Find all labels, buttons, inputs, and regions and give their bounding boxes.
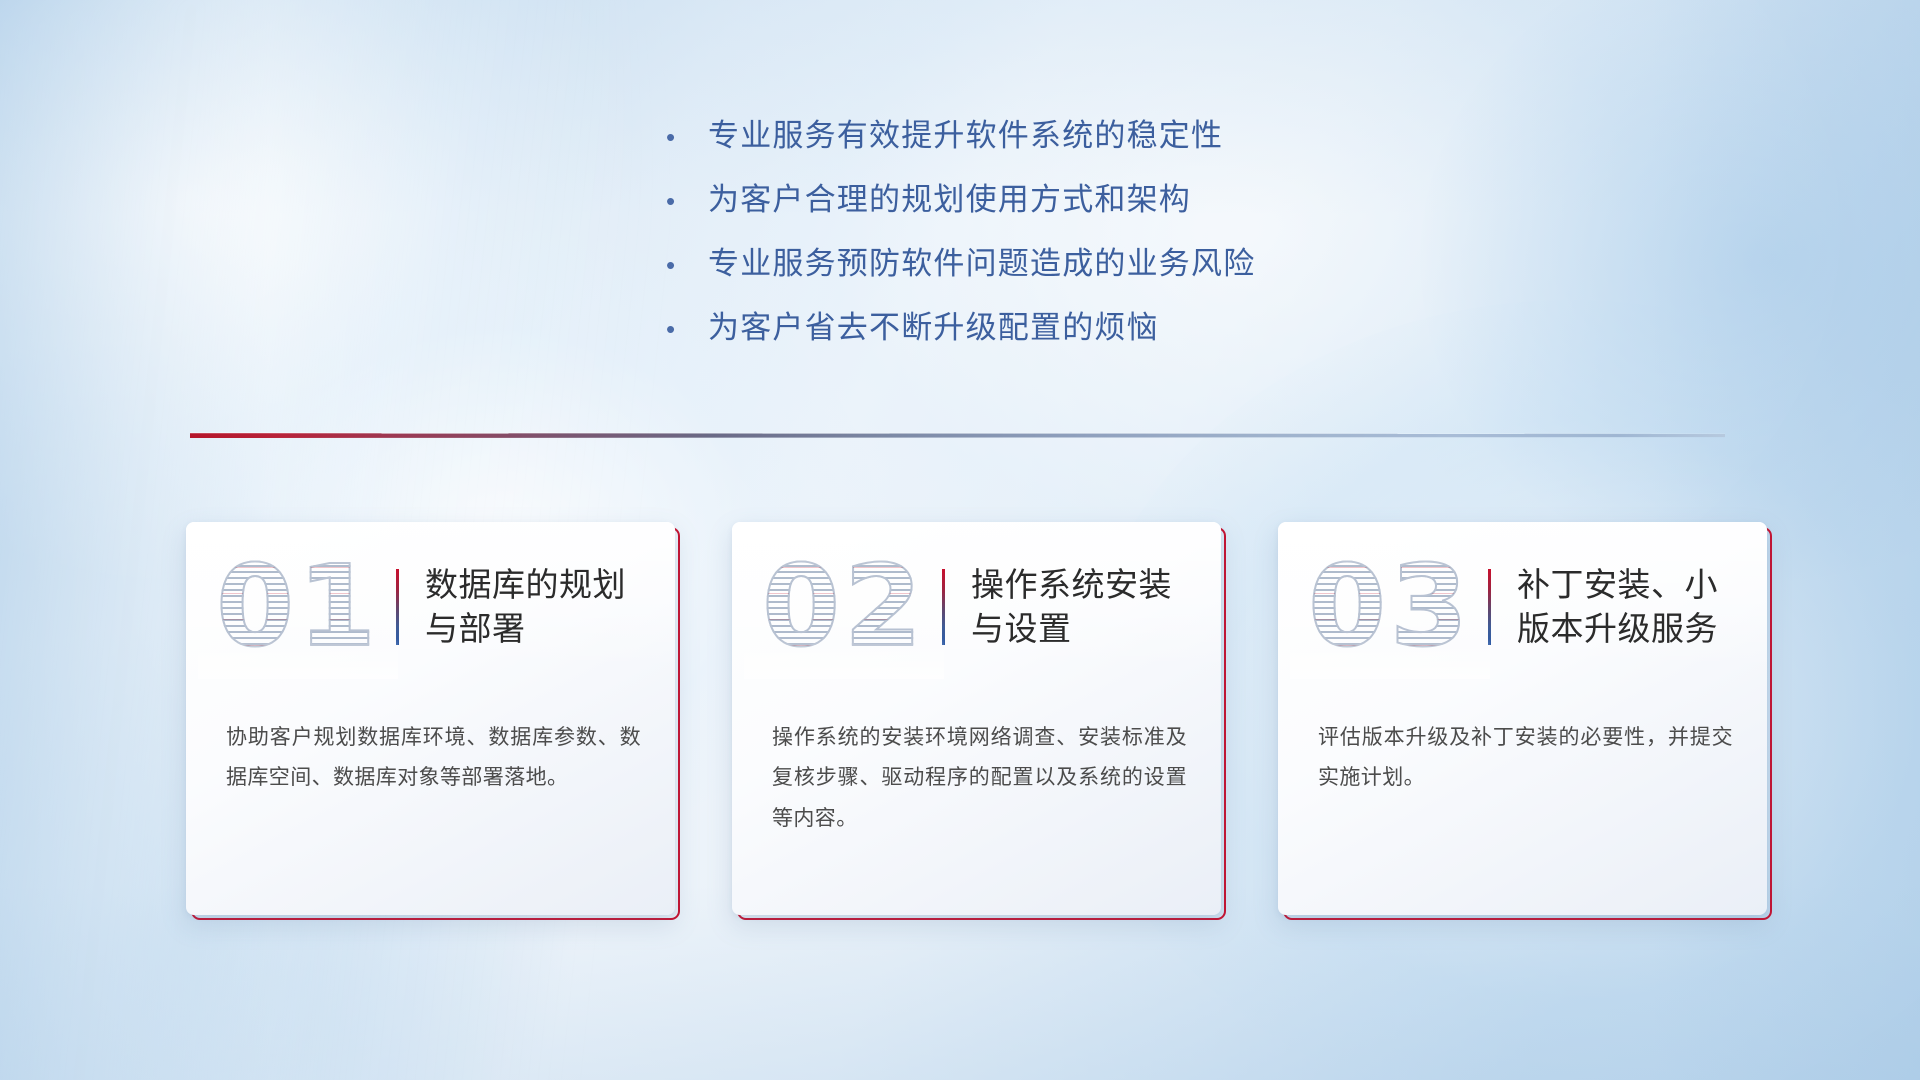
bullet-text: 为客户合理的规划使用方式和架构 (708, 174, 1191, 219)
service-card[interactable]: 01 01 数据库的规划 与部署 协助客户规划数据库环境、数据库参数、数据库空间… (186, 522, 675, 915)
bullet-dot-icon: • (660, 252, 708, 278)
bullet-text: 专业服务有效提升软件系统的稳定性 (708, 110, 1223, 155)
card-title-rule (1488, 569, 1491, 645)
card-title: 数据库的规划 与部署 (425, 563, 626, 651)
bullet-list: • 专业服务有效提升软件系统的稳定性 • 为客户合理的规划使用方式和架构 • 专… (660, 110, 1255, 366)
card-description: 协助客户规划数据库环境、数据库参数、数据库空间、数据库对象等部署落地。 (226, 718, 641, 799)
service-card[interactable]: 03 03 补丁安装、小 版本升级服务 评估版本升级及补丁安装的必要性，并提交实… (1278, 522, 1767, 915)
bullet-text: 为客户省去不断升级配置的烦恼 (708, 302, 1159, 347)
card-header: 03 03 补丁安装、小 版本升级服务 (1278, 522, 1767, 692)
card-number-tint: 02 (750, 541, 938, 673)
section-divider (190, 432, 1725, 442)
bullet-dot-icon: • (660, 316, 708, 342)
card-number-graphic: 03 03 (1296, 541, 1484, 673)
card-header: 02 02 操作系统安装 与设置 (732, 522, 1221, 692)
card-title-line-1: 数据库的规划 (425, 563, 626, 607)
bullet-dot-icon: • (660, 124, 708, 150)
card-surface: 03 03 补丁安装、小 版本升级服务 评估版本升级及补丁安装的必要性，并提交实… (1278, 522, 1767, 915)
card-number-tint: 01 (204, 541, 392, 673)
card-surface: 01 01 数据库的规划 与部署 协助客户规划数据库环境、数据库参数、数据库空间… (186, 522, 675, 915)
bullet-dot-icon: • (660, 188, 708, 214)
card-title-rule (942, 569, 945, 645)
card-header: 01 01 数据库的规划 与部署 (186, 522, 675, 692)
card-title-line-1: 操作系统安装 (971, 563, 1172, 607)
card-description: 评估版本升级及补丁安装的必要性，并提交实施计划。 (1318, 718, 1733, 799)
card-title-rule (396, 569, 399, 645)
card-number-tint: 03 (1296, 541, 1484, 673)
list-item: • 为客户省去不断升级配置的烦恼 (660, 302, 1255, 366)
card-number-graphic: 02 02 (750, 541, 938, 673)
list-item: • 专业服务有效提升软件系统的稳定性 (660, 110, 1255, 174)
card-description: 操作系统的安装环境网络调查、安装标准及复核步骤、驱动程序的配置以及系统的设置等内… (772, 718, 1187, 839)
bullet-text: 专业服务预防软件问题造成的业务风险 (708, 238, 1255, 283)
card-number-graphic: 01 01 (204, 541, 392, 673)
service-card[interactable]: 02 02 操作系统安装 与设置 操作系统的安装环境网络调查、安装标准及复核步骤… (732, 522, 1221, 915)
card-surface: 02 02 操作系统安装 与设置 操作系统的安装环境网络调查、安装标准及复核步骤… (732, 522, 1221, 915)
card-title: 补丁安装、小 版本升级服务 (1517, 563, 1718, 651)
service-card-group: 01 01 数据库的规划 与部署 协助客户规划数据库环境、数据库参数、数据库空间… (186, 522, 1767, 915)
list-item: • 专业服务预防软件问题造成的业务风险 (660, 238, 1255, 302)
card-title-line-1: 补丁安装、小 (1517, 563, 1718, 607)
card-title-line-2: 与设置 (971, 607, 1172, 651)
card-title: 操作系统安装 与设置 (971, 563, 1172, 651)
card-title-line-2: 版本升级服务 (1517, 607, 1718, 651)
list-item: • 为客户合理的规划使用方式和架构 (660, 174, 1255, 238)
card-title-line-2: 与部署 (425, 607, 626, 651)
